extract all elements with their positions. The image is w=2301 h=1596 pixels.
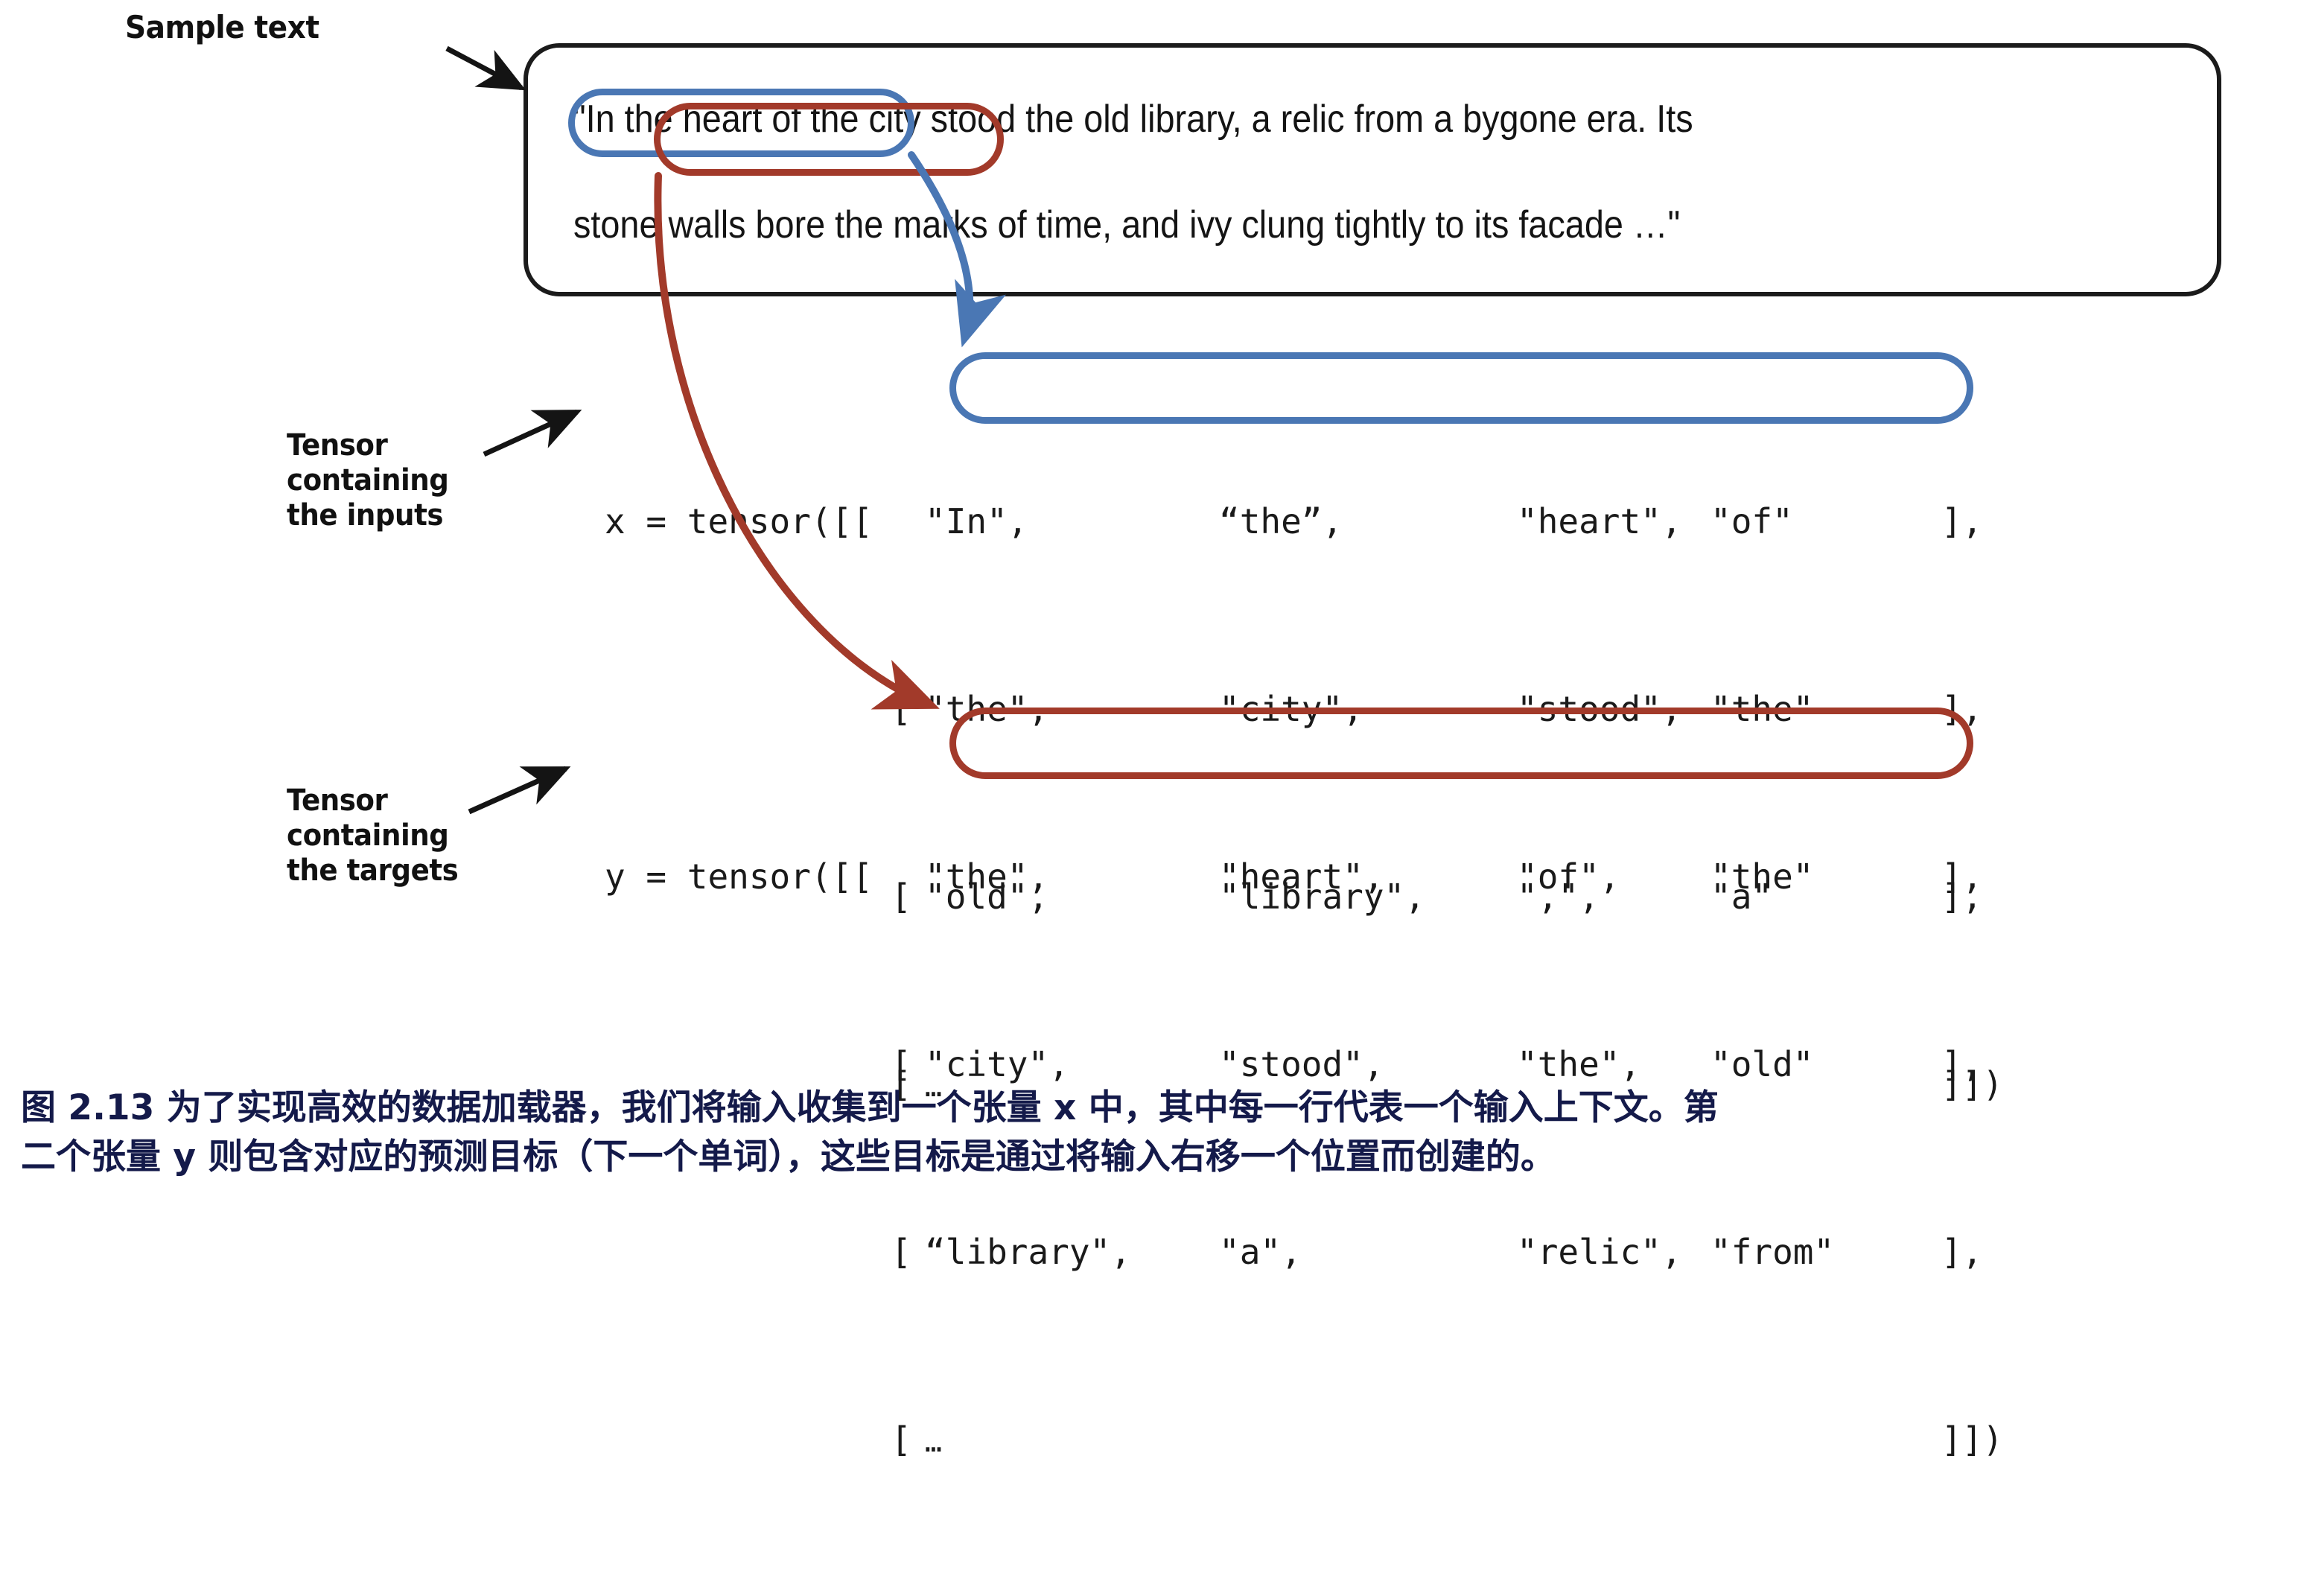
cell: ]]) [1941, 1408, 2003, 1471]
figure-caption: 图 2.13 为了实现高效的数据加载器，我们将输入收集到一个张量 x 中，其中每… [21, 1084, 2285, 1182]
tensor-inputs-arrow [484, 412, 577, 454]
blue-curved-arrow [911, 155, 970, 337]
row-bracket: [ [605, 1408, 925, 1471]
red-curved-arrow [658, 176, 929, 705]
arrow-overlay [0, 0, 2301, 1242]
sample-text-arrow [447, 48, 521, 88]
tensor-targets-arrow [469, 769, 566, 812]
tensor-y-row-3: […]]) [605, 1408, 2003, 1471]
cell: … [925, 1411, 1219, 1473]
caption-line-2: 二个张量 y 则包含对应的预测目标（下一个单词），这些目标是通过将输入右移一个位… [21, 1133, 2285, 1182]
caption-line-1: 图 2.13 为了实现高效的数据加载器，我们将输入收集到一个张量 x 中，其中每… [21, 1084, 2285, 1133]
figure-canvas: Sample text "In the heart of the city st… [0, 0, 2301, 1242]
